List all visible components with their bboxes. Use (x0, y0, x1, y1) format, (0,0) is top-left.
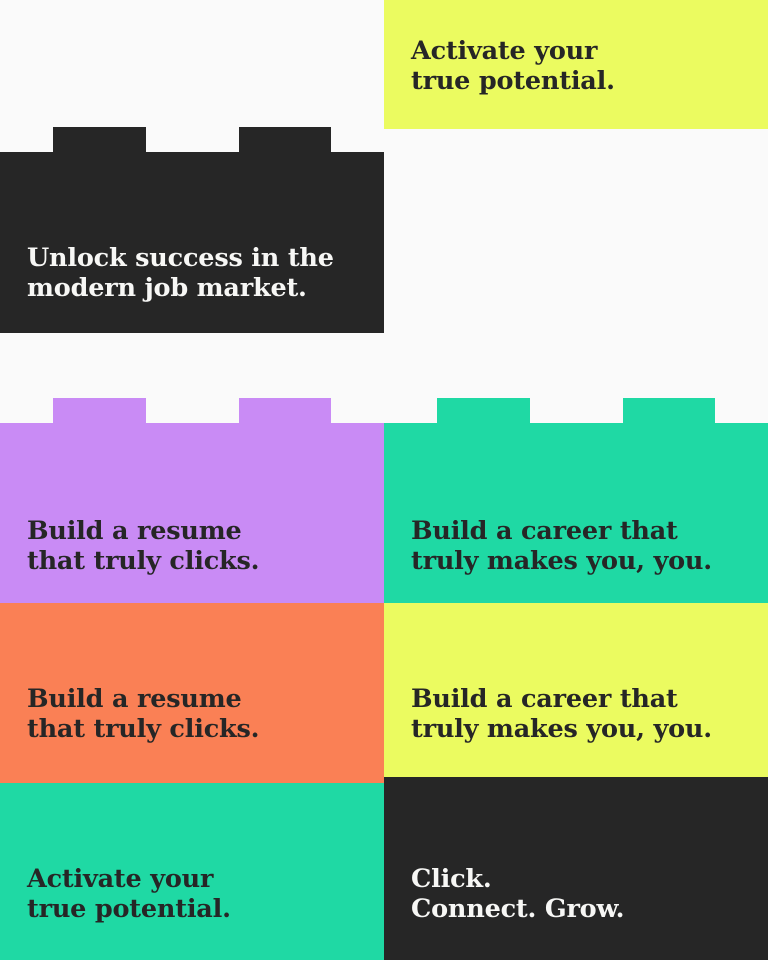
brick-purple[interactable]: Build a resume that truly clicks. (0, 423, 384, 603)
brick-headline: Build a career that truly makes you, you… (411, 517, 712, 577)
brick-stud-left (437, 398, 530, 423)
brick-headline: Activate your true potential. (411, 37, 615, 97)
brick-green-top[interactable]: Build a career that truly makes you, you… (384, 423, 768, 603)
brick-headline: Activate your true potential. (27, 865, 231, 925)
brick-headline: Unlock success in the modern job market. (27, 244, 334, 304)
brick-headline: Build a career that truly makes you, you… (411, 685, 712, 745)
brick-dark-bot[interactable]: Click. Connect. Grow. (384, 777, 768, 960)
brick-hero-yellow[interactable]: Activate your true potential. (384, 0, 768, 129)
brick-stud-right (623, 398, 715, 423)
brick-stud-left (53, 398, 146, 423)
brick-headline: Build a resume that truly clicks. (27, 517, 259, 577)
brick-headline: Click. Connect. Grow. (411, 865, 624, 925)
brick-stud-right (239, 398, 331, 423)
brick-poster: Activate your true potential. Unlock suc… (0, 0, 768, 960)
brick-headline: Build a resume that truly clicks. (27, 685, 259, 745)
brick-stud-right (239, 127, 331, 152)
brick-hero-dark[interactable]: Unlock success in the modern job market. (0, 152, 384, 333)
brick-stud-left (53, 127, 146, 152)
brick-yellow-mid[interactable]: Build a career that truly makes you, you… (384, 603, 768, 777)
brick-green-bot[interactable]: Activate your true potential. (0, 783, 384, 960)
brick-orange[interactable]: Build a resume that truly clicks. (0, 603, 384, 783)
